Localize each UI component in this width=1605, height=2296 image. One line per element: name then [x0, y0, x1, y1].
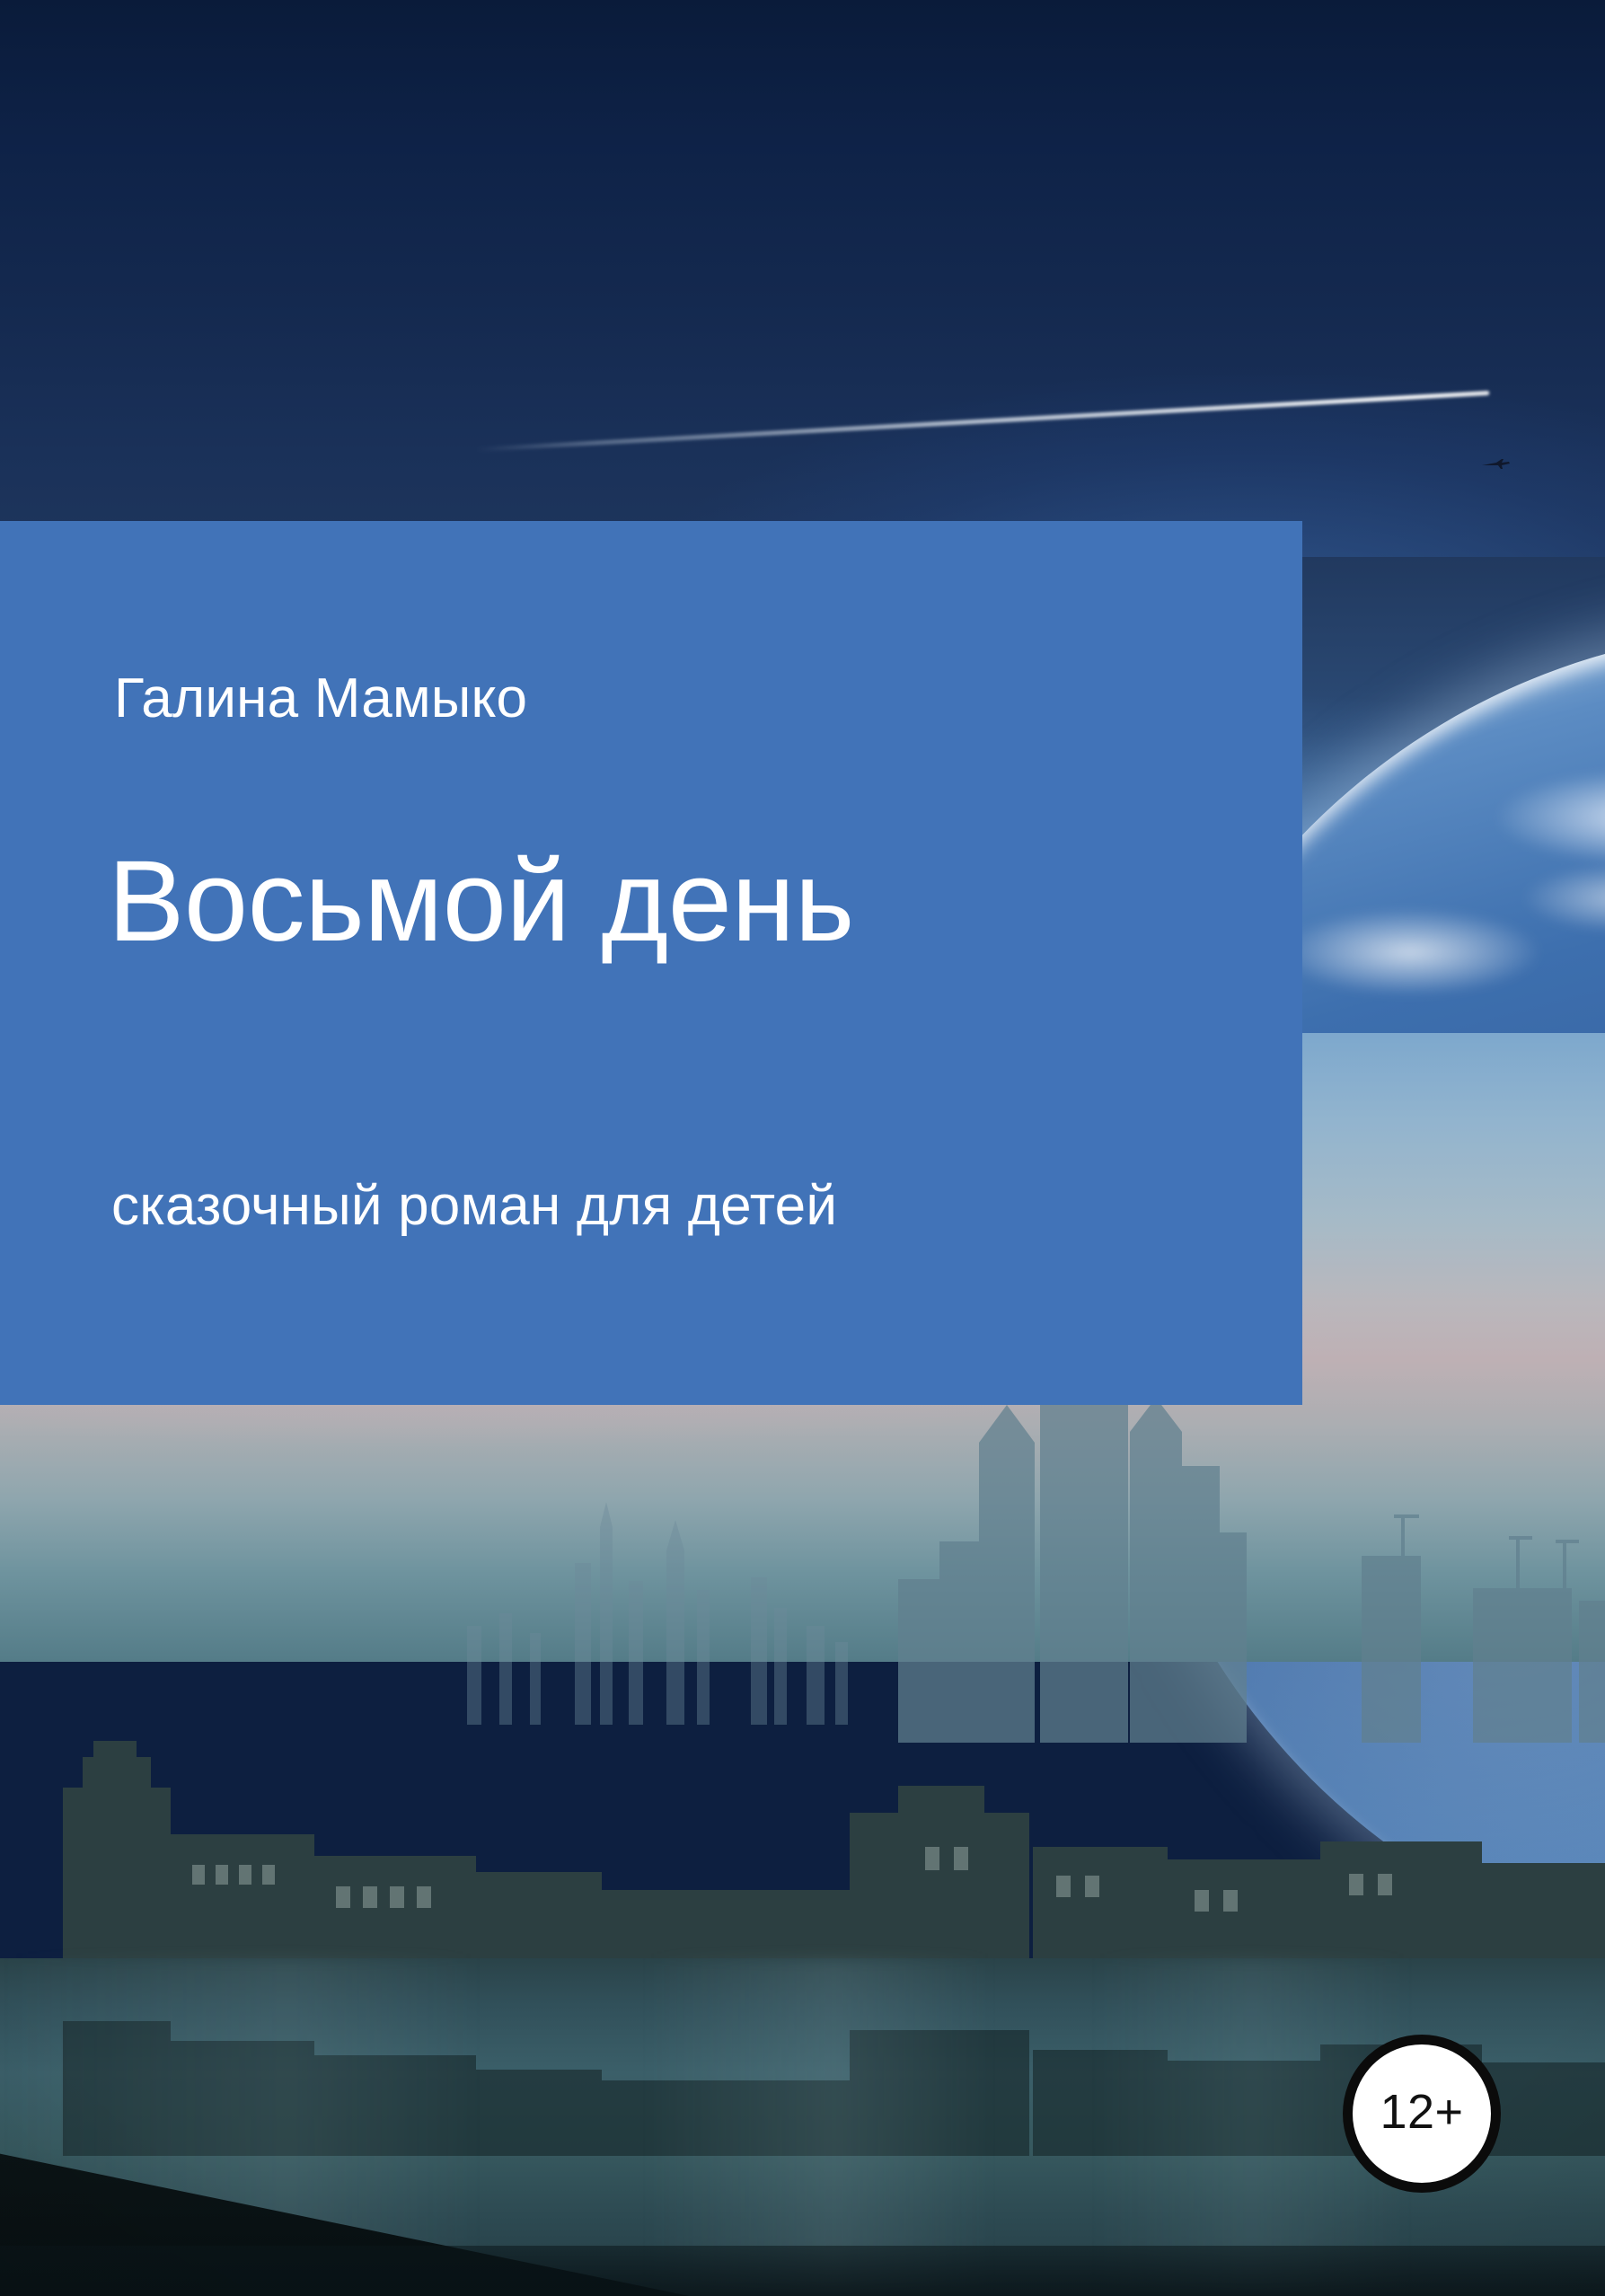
airplane-icon — [1480, 458, 1511, 470]
book-cover: Галина Мамыко Восьмой день сказочный ром… — [0, 0, 1605, 2296]
book-subtitle: сказочный роман для детей — [111, 1179, 837, 1234]
book-title: Восьмой день — [108, 844, 854, 959]
age-rating-badge: 12+ — [1343, 2035, 1501, 2193]
shore-shadow — [0, 2246, 1605, 2296]
age-rating-label: 12+ — [1380, 2084, 1463, 2140]
author-name: Галина Мамыко — [114, 671, 527, 727]
